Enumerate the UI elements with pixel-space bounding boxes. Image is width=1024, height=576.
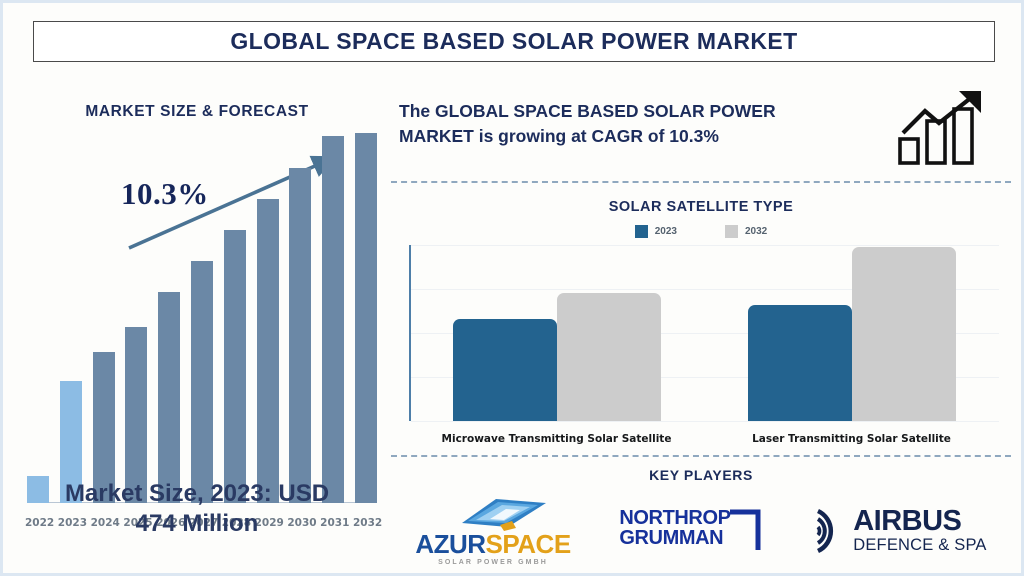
northrop-line1: NORTHROP bbox=[619, 508, 730, 528]
legend-label-2023: 2023 bbox=[655, 226, 677, 237]
infographic-page: GLOBAL SPACE BASED SOLAR POWER MARKET MA… bbox=[0, 0, 1024, 576]
legend-label-2032: 2032 bbox=[745, 226, 767, 237]
key-players-logos: AZURSPACE SOLAR POWER GMBH NORTHROP GRUM… bbox=[391, 491, 1011, 571]
airbus-wordmark: AIRBUS DEFENCE & SPA bbox=[853, 508, 986, 554]
legend-item-2023: 2023 bbox=[635, 225, 677, 238]
legend-swatch-2032 bbox=[725, 225, 738, 238]
bar-2032-1 bbox=[852, 247, 956, 421]
bar-2023-1 bbox=[748, 305, 852, 421]
solar-satellite-type-chart: Microwave Transmitting Solar SatelliteLa… bbox=[395, 245, 1007, 445]
category-label-0: Microwave Transmitting Solar Satellite bbox=[437, 433, 677, 445]
bar-2032-0 bbox=[557, 293, 661, 421]
divider-top bbox=[391, 181, 1011, 183]
gridline bbox=[411, 421, 999, 422]
bar-2028 bbox=[224, 230, 246, 503]
left-bar bbox=[25, 113, 51, 503]
cagr-statement-line1: The GLOBAL SPACE BASED SOLAR POWER bbox=[399, 101, 776, 121]
left-bar-series bbox=[25, 113, 379, 503]
bar-2026 bbox=[158, 292, 180, 503]
bar-chart-growth-arrow-icon bbox=[897, 89, 993, 167]
northrop-bracket-icon bbox=[728, 508, 762, 554]
left-bar bbox=[123, 113, 149, 503]
left-bar bbox=[320, 113, 346, 503]
right-category-labels: Microwave Transmitting Solar SatelliteLa… bbox=[409, 433, 999, 445]
airbus-logo: AIRBUS DEFENCE & SPA bbox=[810, 505, 986, 557]
azurspace-word-b: SPACE bbox=[486, 529, 571, 559]
left-bar bbox=[353, 113, 379, 503]
airbus-line2: DEFENCE & SPA bbox=[853, 536, 986, 554]
bar-2031 bbox=[322, 136, 344, 503]
left-bar bbox=[287, 113, 313, 503]
bar-2032 bbox=[355, 133, 377, 503]
solar-panel-icon bbox=[434, 497, 552, 531]
left-bar bbox=[156, 113, 182, 503]
chart-legend: 20232032 bbox=[391, 225, 1011, 238]
northrop-wordmark: NORTHROP GRUMMAN bbox=[619, 508, 730, 548]
legend-item-2032: 2032 bbox=[725, 225, 767, 238]
bar-group-0 bbox=[453, 245, 661, 421]
bar-group-1 bbox=[748, 245, 956, 421]
azurspace-word-a: AZUR bbox=[415, 529, 485, 559]
bar-2027 bbox=[191, 261, 213, 503]
left-bar bbox=[255, 113, 281, 503]
market-size-forecast-panel: MARKET SIZE & FORECAST 10.3% 20222023202… bbox=[9, 83, 385, 573]
key-players-title: KEY PLAYERS bbox=[391, 467, 1011, 483]
northrop-wrap: NORTHROP GRUMMAN bbox=[619, 508, 761, 554]
airbus-line1: AIRBUS bbox=[853, 508, 986, 536]
market-size-line2: 474 Million bbox=[136, 510, 259, 537]
divider-bottom bbox=[391, 455, 1011, 457]
category-label-1: Laser Transmitting Solar Satellite bbox=[732, 433, 972, 445]
northrop-line2: GRUMMAN bbox=[619, 528, 730, 548]
azurspace-subtitle: SOLAR POWER GMBH bbox=[438, 559, 548, 566]
left-bar bbox=[189, 113, 215, 503]
left-bar bbox=[91, 113, 117, 503]
market-size-bar-chart: 2022202320242025202620272028202920302031… bbox=[17, 113, 383, 533]
page-title: GLOBAL SPACE BASED SOLAR POWER MARKET bbox=[230, 28, 797, 55]
solar-satellite-type-title: SOLAR SATELLITE TYPE bbox=[391, 199, 1011, 215]
northrop-grumman-logo: NORTHROP GRUMMAN bbox=[619, 508, 761, 554]
market-size-value: Market Size, 2023: USD 474 Million bbox=[9, 479, 385, 539]
bar-2029 bbox=[257, 199, 279, 503]
legend-swatch-2023 bbox=[635, 225, 648, 238]
market-size-line1: Market Size, 2023: USD bbox=[65, 480, 329, 507]
left-bar bbox=[58, 113, 84, 503]
bar-2025 bbox=[125, 327, 147, 503]
azurspace-wordmark: AZURSPACE bbox=[415, 531, 570, 557]
bar-2023-0 bbox=[453, 319, 557, 421]
right-bar-groups bbox=[409, 245, 999, 421]
left-bar bbox=[222, 113, 248, 503]
airbus-swirl-icon bbox=[810, 505, 846, 557]
cagr-statement-line2: MARKET is growing at CAGR of 10.3% bbox=[399, 126, 719, 146]
azurspace-logo: AZURSPACE SOLAR POWER GMBH bbox=[415, 497, 570, 566]
cagr-statement: The GLOBAL SPACE BASED SOLAR POWER MARKE… bbox=[399, 99, 899, 149]
airbus-wrap: AIRBUS DEFENCE & SPA bbox=[810, 505, 986, 557]
right-panel: The GLOBAL SPACE BASED SOLAR POWER MARKE… bbox=[391, 83, 1011, 575]
page-title-box: GLOBAL SPACE BASED SOLAR POWER MARKET bbox=[33, 21, 995, 62]
bar-2030 bbox=[289, 168, 311, 503]
